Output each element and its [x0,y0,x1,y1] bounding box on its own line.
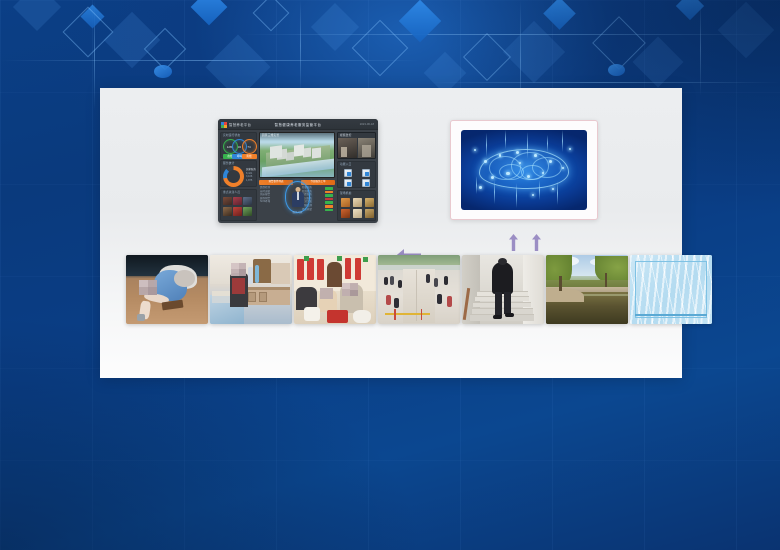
dashboard-title: 智慧健康养老服务监管平台 [218,122,378,127]
data-streak [516,183,517,209]
neural-node [519,162,521,164]
photo-strip-item[interactable] [546,255,628,324]
photo-strip-item[interactable] [462,255,544,324]
service-donut-chart [223,166,244,187]
figure-caption: 服务对象 [285,210,310,214]
panel-gallery: 现场抓拍 [337,190,376,221]
neural-node [506,172,510,176]
neural-node [532,194,534,196]
feature-icon[interactable] [362,179,370,187]
data-streak [494,180,495,204]
panel-status: 实时运行状态 1286 32 74 在线 呼叫 离线 [220,132,257,158]
data-streak [562,130,563,152]
data-streak [557,181,558,205]
panel-service-donut: 服务统计 居家服务 8,421 3,106 1,875 [220,160,257,187]
person-thumbnail[interactable] [243,197,252,206]
photo-strip-item[interactable] [126,255,208,324]
photo-strip-item[interactable] [630,255,712,324]
content-panel: 智慧养老平台 智慧健康养老服务监管平台 2023-06-18 实时运行状态 12… [100,88,682,378]
status-ring-offline: 74 [242,139,257,154]
capture-thumbnail[interactable] [353,209,362,218]
donut-legend-label-0: 居家服务 [246,168,256,171]
capture-thumbnail[interactable] [353,198,362,207]
neural-node [499,154,502,157]
dashboard-screenshot[interactable]: 智慧养老平台 智慧健康养老服务监管平台 2023-06-18 实时运行状态 12… [218,119,378,223]
photo-strip-item[interactable] [294,255,376,324]
feature-icon[interactable] [344,169,352,177]
neural-node [479,186,482,189]
figure-shirt [297,192,299,200]
up-arrow-icon [532,234,541,251]
panel-people: 重点关注人员 [220,189,257,221]
panel-3d-map[interactable]: 园区三维实景 [259,132,335,178]
donut-legend: 居家服务 8,421 3,106 1,875 [246,168,256,182]
person-thumbnail[interactable] [223,197,232,206]
photo-strip-item[interactable] [210,255,292,324]
panel-people-header: 重点关注人员 [221,190,256,195]
capture-thumbnail[interactable] [341,198,350,207]
panel-gallery-header: 现场抓拍 [338,191,375,196]
capture-thumbnail[interactable] [341,209,350,218]
data-streak [505,130,506,149]
person-thumbnail[interactable] [233,207,242,216]
data-streak [547,135,548,153]
data-streak [486,133,487,157]
panel-camera[interactable]: 视频监控 [337,132,376,159]
person-thumbnail[interactable] [243,207,252,216]
brain-gyrus [521,165,544,179]
panel-icons-header: 功能入口 [338,162,375,167]
neural-node [527,175,530,178]
dashboard-date: 2023-06-18 [360,122,374,126]
neural-node [474,149,476,151]
feature-icon[interactable] [362,169,370,177]
capture-thumbnail[interactable] [365,209,374,218]
panel-donut-header: 服务统计 [221,161,256,166]
data-streak [539,180,540,201]
panel-status-header: 实时运行状态 [221,133,256,138]
panel-map-header: 园区三维实景 [260,133,334,138]
ai-brain-image: 蓝色科技感人工智能大脑神经网络示意图 [461,130,587,210]
panel-icon-grid: 功能入口 [337,161,376,188]
status-chip-offline: 离线 [242,154,257,159]
ai-brain-card[interactable]: 蓝色科技感人工智能大脑神经网络示意图 [450,120,598,220]
person-thumbnail[interactable] [223,207,232,216]
dashboard-topbar: 智慧养老平台 智慧健康养老服务监管平台 2023-06-18 [218,119,378,130]
neural-node [534,154,537,157]
donut-legend-value-2: 1,875 [246,179,256,183]
up-arrow-icon [509,234,518,251]
center-person-figure: 服务对象 [285,181,310,213]
data-streak [476,176,477,194]
feature-icon[interactable] [344,179,352,187]
capture-thumbnail[interactable] [365,198,374,207]
person-thumbnail[interactable] [233,197,242,206]
data-streak [527,132,528,159]
brain-gyrus [499,164,524,180]
panel-camera-header: 视频监控 [338,133,375,138]
photo-strip-item[interactable] [378,255,460,324]
